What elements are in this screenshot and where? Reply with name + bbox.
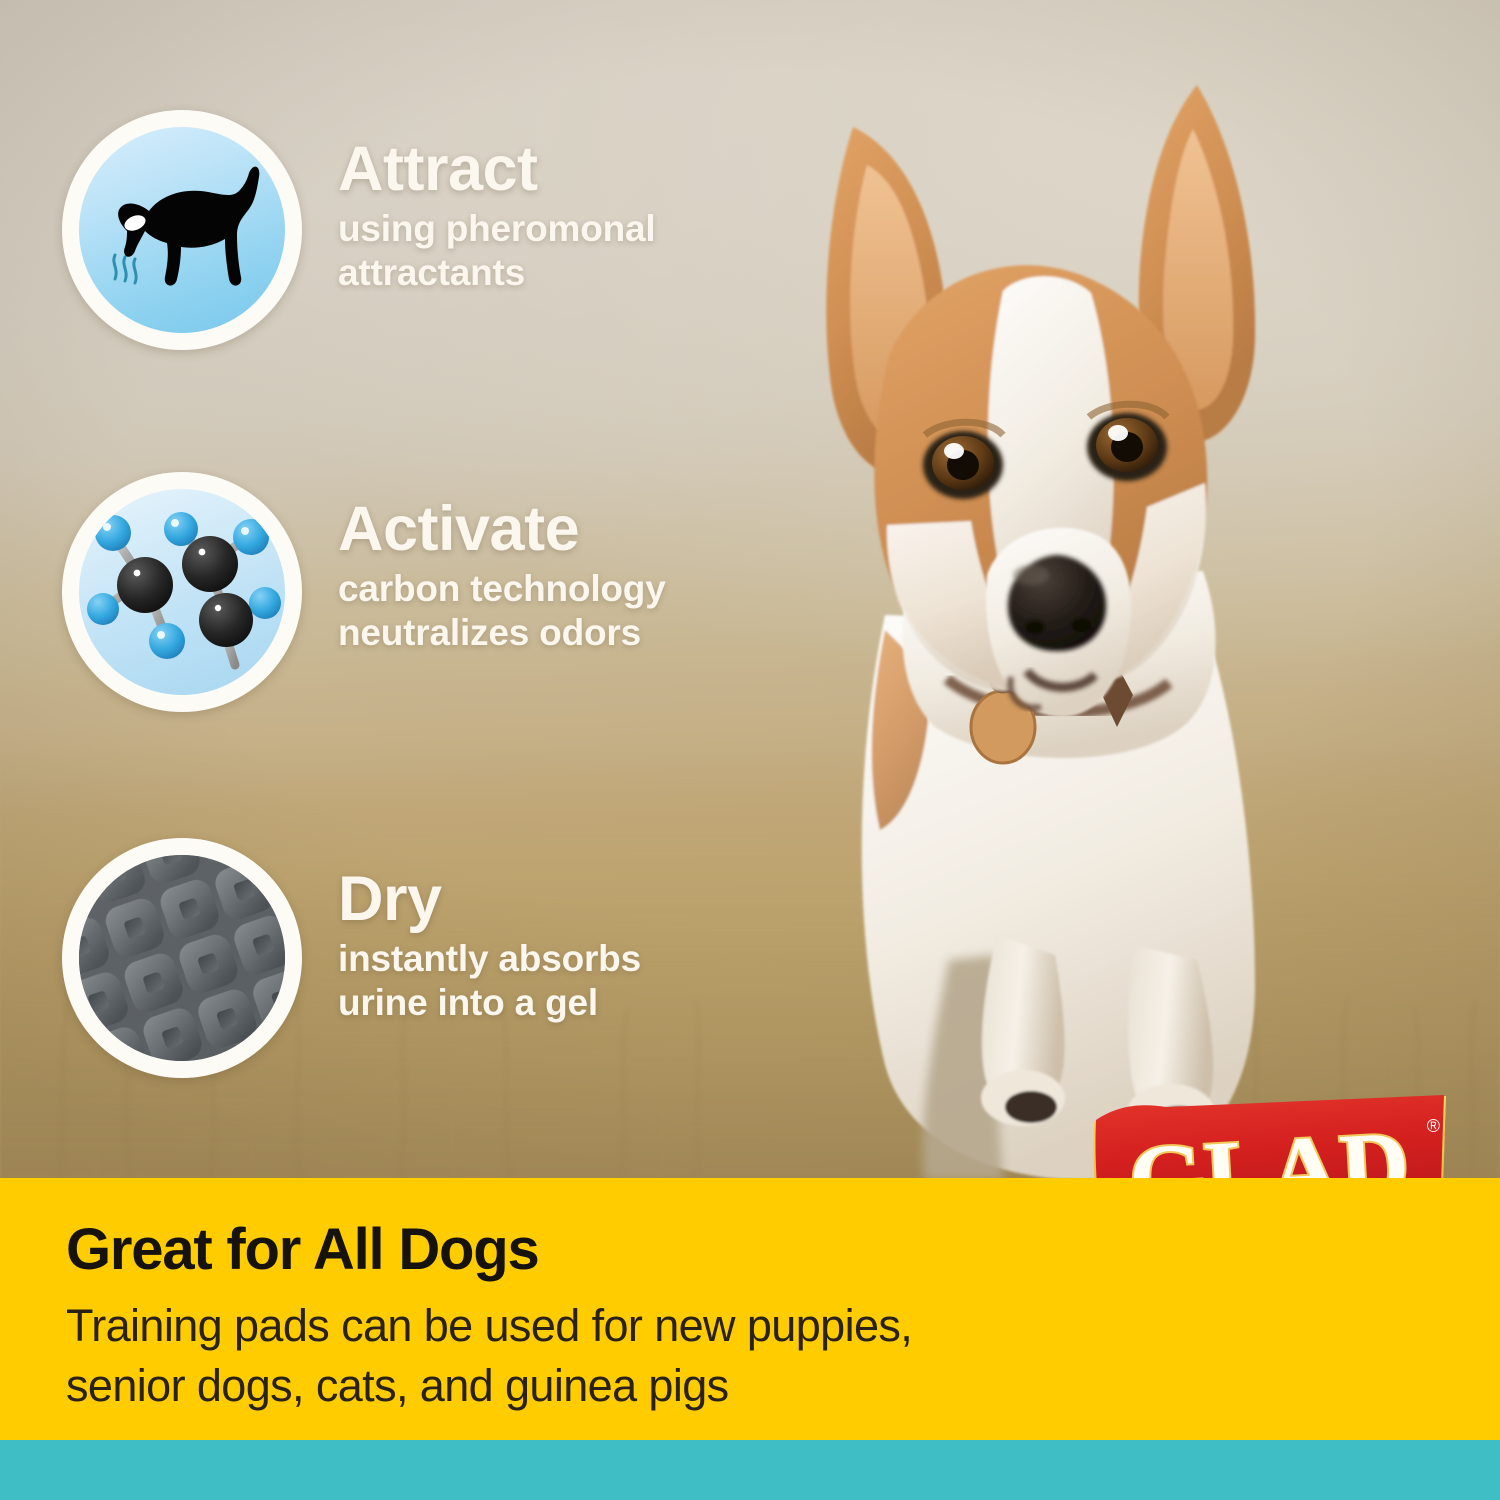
dog-sniffing-icon [79, 127, 285, 333]
feature-title-dry: Dry [338, 868, 641, 931]
feature-badge-attract [62, 110, 302, 350]
band-heading: Great for All Dogs [66, 1216, 539, 1283]
quilted-pad-texture-icon [79, 855, 285, 1061]
feature-title-attract: Attract [338, 138, 655, 201]
feature-list: Attract using pheromonal attractants [0, 0, 760, 1180]
feature-subtitle-dry: instantly absorbs urine into a gel [338, 937, 641, 1024]
teal-footer-strip [0, 1440, 1500, 1500]
feature-row-activate: Activate carbon technology neutralizes o… [62, 472, 666, 712]
feature-badge-dry [62, 838, 302, 1078]
feature-badge-activate [62, 472, 302, 712]
yellow-info-band: Great for All Dogs Training pads can be … [0, 1178, 1500, 1440]
product-feature-ad: Attract using pheromonal attractants [0, 0, 1500, 1500]
feature-subtitle-attract: using pheromonal attractants [338, 207, 655, 294]
feature-title-activate: Activate [338, 498, 666, 561]
band-body: Training pads can be used for new puppie… [66, 1296, 912, 1416]
carbon-molecule-icon [79, 489, 285, 695]
feature-subtitle-activate: carbon technology neutralizes odors [338, 567, 666, 654]
feature-row-dry: Dry instantly absorbs urine into a gel [62, 838, 641, 1078]
feature-text-attract: Attract using pheromonal attractants [338, 110, 655, 294]
dog-photo-subject [735, 55, 1435, 1180]
feature-row-attract: Attract using pheromonal attractants [62, 110, 655, 350]
feature-text-activate: Activate carbon technology neutralizes o… [338, 472, 666, 654]
feature-text-dry: Dry instantly absorbs urine into a gel [338, 838, 641, 1024]
